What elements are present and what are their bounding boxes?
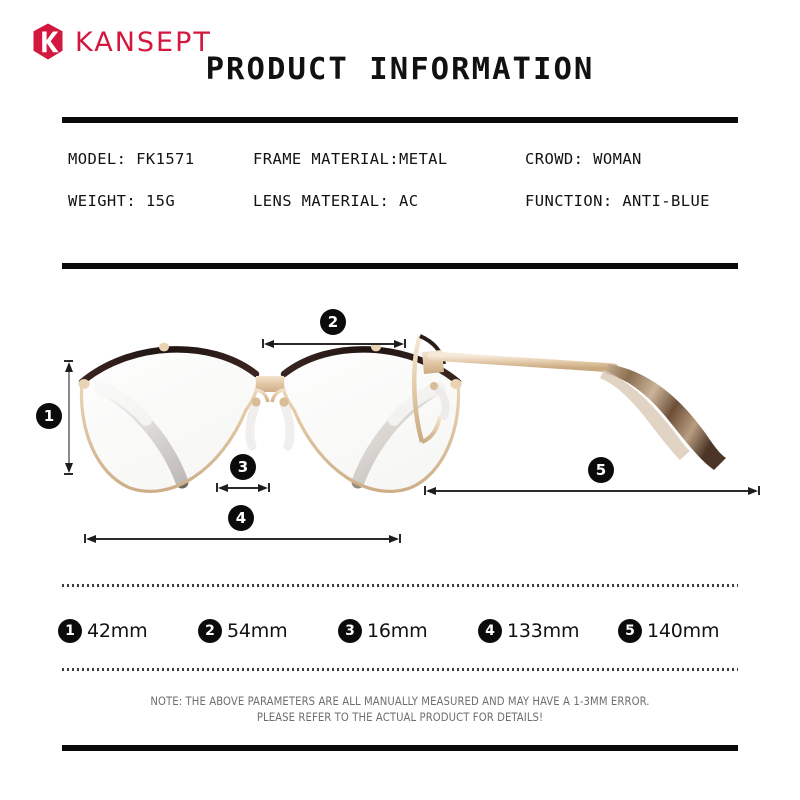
spec-model: MODEL: FK1571 xyxy=(68,150,253,168)
legend-item: 5 140mm xyxy=(618,619,758,643)
spec-frame-material: FRAME MATERIAL:METAL xyxy=(253,150,525,168)
dimension-line-2 xyxy=(262,339,406,348)
divider-bottom xyxy=(62,745,738,751)
dimension-marker-2: 2 xyxy=(320,309,346,335)
page-title: PRODUCT INFORMATION xyxy=(0,52,800,87)
note-line-1: NOTE: THE ABOVE PARAMETERS ARE ALL MANUA… xyxy=(0,694,800,710)
dimension-marker-5: 5 xyxy=(588,457,614,483)
legend-bubble-1: 1 xyxy=(58,619,82,643)
legend-bubble-4: 4 xyxy=(478,619,502,643)
dimension-line-3 xyxy=(216,483,270,492)
dimension-line-1 xyxy=(64,360,73,475)
measurement-note: NOTE: THE ABOVE PARAMETERS ARE ALL MANUA… xyxy=(0,694,800,726)
spec-function: FUNCTION: ANTI-BLUE xyxy=(525,192,758,210)
spec-weight: WEIGHT: 15G xyxy=(68,192,253,210)
legend-item: 4 133mm xyxy=(478,619,618,643)
legend-item: 2 54mm xyxy=(198,619,338,643)
glasses-side-view xyxy=(408,330,768,510)
dimension-marker-4: 4 xyxy=(228,505,254,531)
legend-value-3: 16mm xyxy=(367,620,427,642)
legend-bubble-3: 3 xyxy=(338,619,362,643)
measurement-legend: 1 42mm 2 54mm 3 16mm 4 133mm 5 140mm xyxy=(58,619,758,643)
legend-value-1: 42mm xyxy=(87,620,147,642)
divider-dotted-bottom xyxy=(62,668,738,671)
legend-item: 3 16mm xyxy=(338,619,478,643)
legend-value-2: 54mm xyxy=(227,620,287,642)
dimension-diagram: 1 2 3 4 5 xyxy=(0,282,800,567)
divider-top xyxy=(62,117,738,123)
note-line-2: PLEASE REFER TO THE ACTUAL PRODUCT FOR D… xyxy=(0,710,800,726)
legend-item: 1 42mm xyxy=(58,619,198,643)
spec-row: WEIGHT: 15G LENS MATERIAL: AC FUNCTION: … xyxy=(68,192,758,210)
spec-lens-material: LENS MATERIAL: AC xyxy=(253,192,525,210)
legend-bubble-2: 2 xyxy=(198,619,222,643)
spec-crowd: CROWD: WOMAN xyxy=(525,150,758,168)
dimension-line-5 xyxy=(424,486,760,495)
spec-table: MODEL: FK1571 FRAME MATERIAL:METAL CROWD… xyxy=(68,150,758,234)
dimension-marker-3: 3 xyxy=(230,454,256,480)
product-information-page: KANSEPT PRODUCT INFORMATION MODEL: FK157… xyxy=(0,0,800,800)
dimension-marker-1: 1 xyxy=(36,403,62,429)
dimension-line-4 xyxy=(84,534,401,543)
legend-value-4: 133mm xyxy=(507,620,579,642)
spec-row: MODEL: FK1571 FRAME MATERIAL:METAL CROWD… xyxy=(68,150,758,168)
legend-value-5: 140mm xyxy=(647,620,719,642)
legend-bubble-5: 5 xyxy=(618,619,642,643)
divider-middle xyxy=(62,263,738,269)
divider-dotted-top xyxy=(62,584,738,587)
